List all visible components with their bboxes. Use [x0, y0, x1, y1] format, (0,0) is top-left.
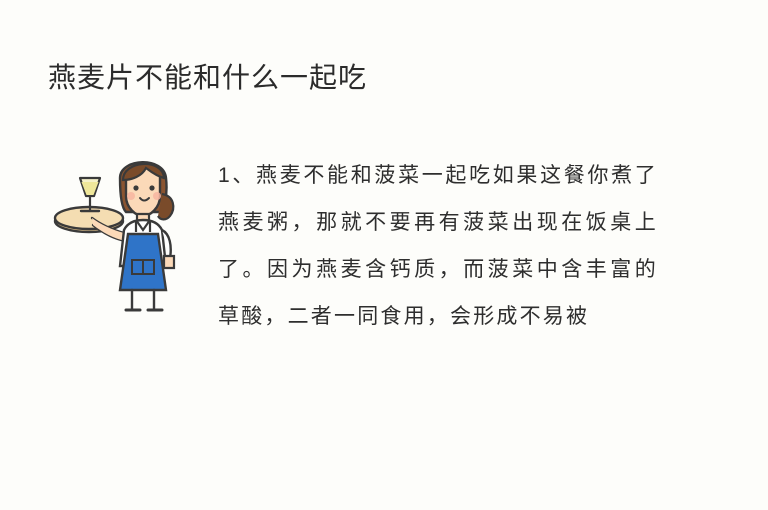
document-page: 燕麦片不能和什么一起吃 [0, 0, 768, 510]
waitress-with-tray-illustration [52, 138, 202, 313]
page-title: 燕麦片不能和什么一起吃 [48, 58, 367, 98]
article-paragraph: 1、燕麦不能和菠菜一起吃如果这餐你煮了燕麦粥，那就不要再有菠菜出现在饭桌上了。因… [218, 152, 658, 340]
